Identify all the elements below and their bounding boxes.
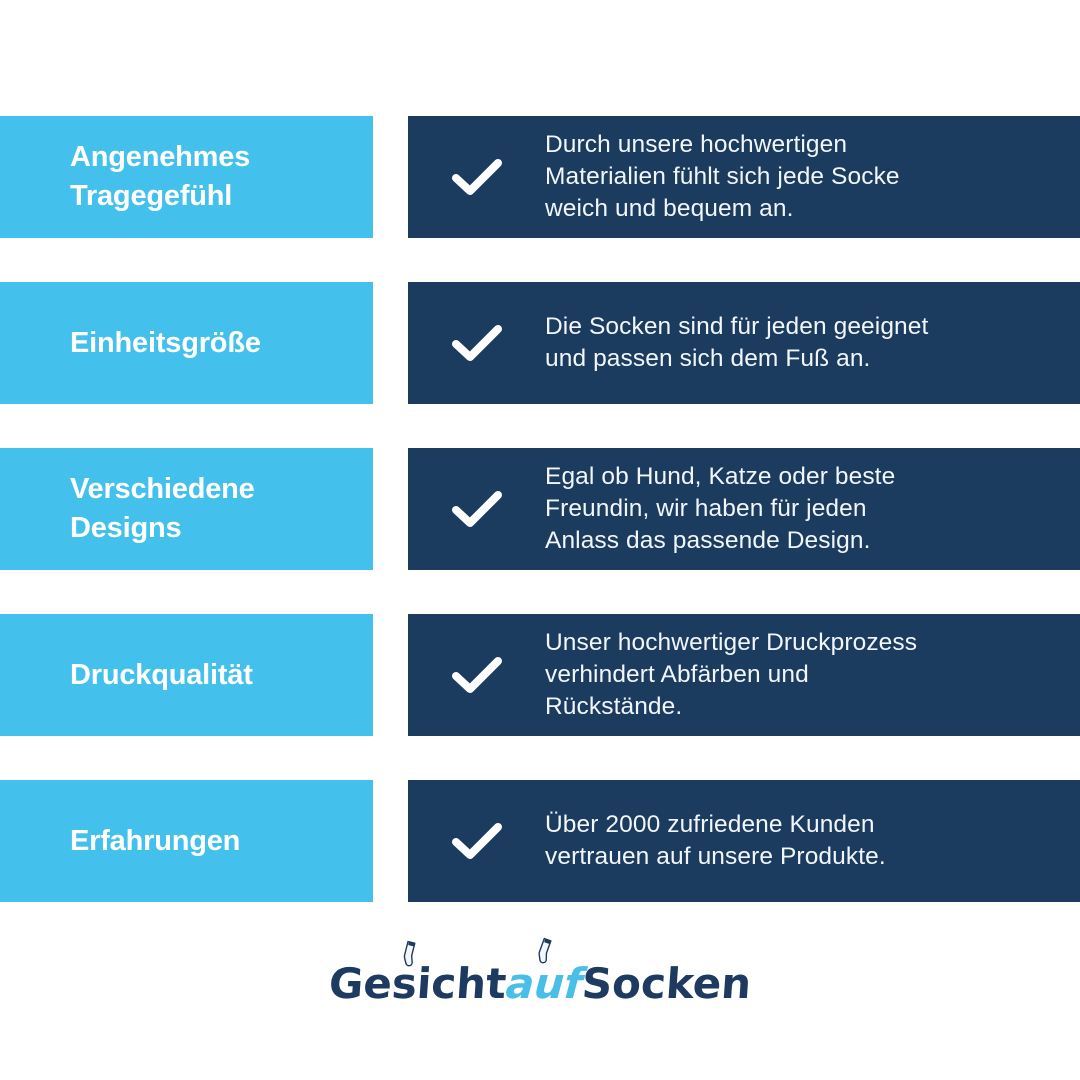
panel-gap (373, 282, 408, 404)
check-icon (408, 821, 545, 861)
panel-gap (373, 448, 408, 570)
feature-label: Angenehmes Tragegefühl (70, 138, 250, 215)
feature-label-panel: Verschiedene Designs (0, 448, 373, 570)
check-icon (408, 655, 545, 695)
feature-label-panel: Einheitsgröße (0, 282, 373, 404)
feature-row: Angenehmes Tragegefühl Durch unsere hoch… (0, 116, 1080, 238)
panel-gap (373, 116, 408, 238)
logo-word-gesicht: Gesicht (327, 963, 507, 1005)
feature-row: Druckqualität Unser hochwertiger Druckpr… (0, 614, 1080, 736)
feature-list-page: Angenehmes Tragegefühl Durch unsere hoch… (0, 0, 1080, 1080)
feature-description-panel: Über 2000 zufriedene Kunden vertrauen au… (408, 780, 1080, 902)
feature-row: Verschiedene Designs Egal ob Hund, Katze… (0, 448, 1080, 570)
feature-description-panel: Die Socken sind für jeden geeignet und p… (408, 282, 1080, 404)
check-icon (408, 323, 545, 363)
brand-logo-text: GesichtaufSocken (329, 963, 752, 1005)
feature-label-panel: Druckqualität (0, 614, 373, 736)
check-icon (408, 489, 545, 529)
feature-label-panel: Erfahrungen (0, 780, 373, 902)
logo-word-auf: auf (504, 963, 583, 1005)
feature-description: Die Socken sind für jeden geeignet und p… (545, 311, 928, 376)
feature-label: Erfahrungen (70, 822, 240, 861)
feature-label: Verschiedene Designs (70, 470, 255, 547)
feature-description: Über 2000 zufriedene Kunden vertrauen au… (545, 809, 886, 874)
panel-gap (373, 614, 408, 736)
panel-gap (373, 780, 408, 902)
feature-label-panel: Angenehmes Tragegefühl (0, 116, 373, 238)
feature-label: Druckqualität (70, 656, 253, 695)
feature-description-panel: Durch unsere hochwertigen Materialien fü… (408, 116, 1080, 238)
brand-logo: GesichtaufSocken (0, 963, 1080, 1005)
check-icon (408, 157, 545, 197)
feature-description-panel: Egal ob Hund, Katze oder beste Freundin,… (408, 448, 1080, 570)
feature-row: Einheitsgröße Die Socken sind für jeden … (0, 282, 1080, 404)
feature-list: Angenehmes Tragegefühl Durch unsere hoch… (0, 116, 1080, 946)
feature-description: Egal ob Hund, Katze oder beste Freundin,… (545, 461, 895, 558)
feature-row: Erfahrungen Über 2000 zufriedene Kunden … (0, 780, 1080, 902)
feature-description-panel: Unser hochwertiger Druckprozess verhinde… (408, 614, 1080, 736)
feature-description: Durch unsere hochwertigen Materialien fü… (545, 129, 900, 226)
feature-label: Einheitsgröße (70, 324, 261, 363)
logo-word-socken: Socken (581, 963, 753, 1005)
feature-description: Unser hochwertiger Druckprozess verhinde… (545, 627, 917, 724)
